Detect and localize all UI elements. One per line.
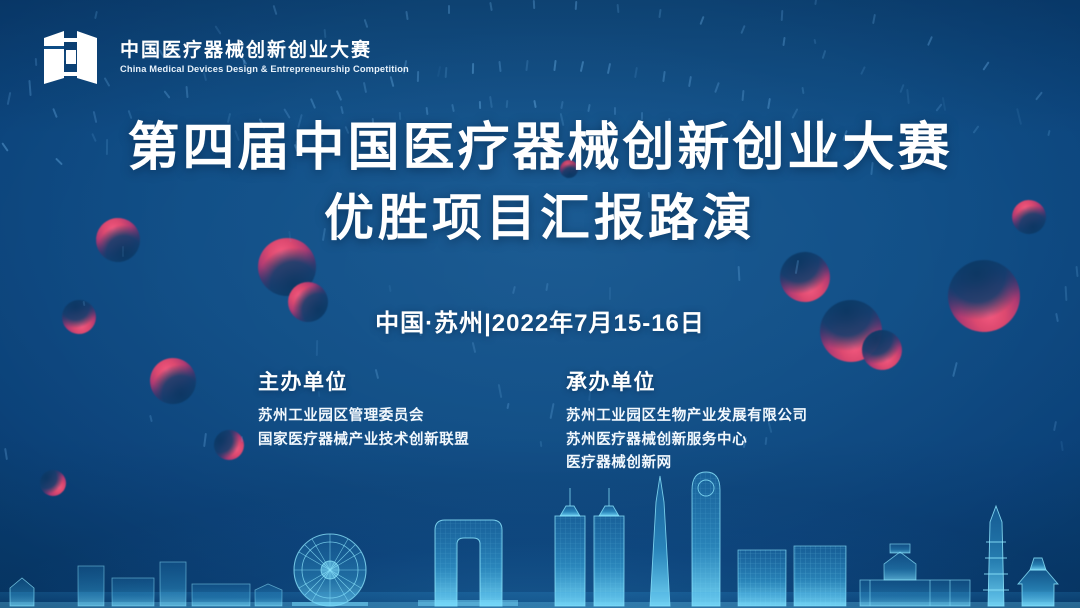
logo-title-cn: 中国医疗器械创新创业大赛 xyxy=(120,40,418,61)
pagoda xyxy=(983,506,1009,606)
list-item: 国家医疗器械产业技术创新联盟 xyxy=(258,429,540,452)
event-poster: 中国医疗器械创新创业大赛 China Medical Devices Desig… xyxy=(0,0,1080,608)
co-organizer-heading: 承办单位 xyxy=(566,370,840,396)
open-door-window-logo-icon xyxy=(36,26,106,88)
poster-title: 第四届中国医疗器械创新创业大赛 优胜项目汇报路演 xyxy=(0,118,1080,248)
logo-subtitle-en: China Medical Devices Design & Entrepren… xyxy=(120,65,409,76)
title-line-1: 第四届中国医疗器械创新创业大赛 xyxy=(0,118,1080,179)
list-item: 苏州医疗器械创新服务中心 xyxy=(566,429,840,452)
brand-header: 中国医疗器械创新创业大赛 China Medical Devices Desig… xyxy=(36,26,418,88)
host-organizer-heading: 主办单位 xyxy=(258,370,540,396)
co-organizer-column: 承办单位 苏州工业园区生物产业发展有限公司 苏州医疗器械创新服务中心 医疗器械创… xyxy=(540,370,840,476)
organizer-section: 主办单位 苏州工业园区管理委员会 国家医疗器械产业技术创新联盟 承办单位 苏州工… xyxy=(0,370,1080,476)
spire-tower xyxy=(650,476,670,606)
title-line-2: 优胜项目汇报路演 xyxy=(0,189,1080,248)
location-date-line: 中国·苏州|2022年7月15-16日 xyxy=(0,303,1080,338)
list-item: 医疗器械创新网 xyxy=(566,452,840,475)
skyline-ground xyxy=(0,592,1080,608)
list-item: 苏州工业园区生物产业发展有限公司 xyxy=(566,405,840,428)
host-organizer-column: 主办单位 苏州工业园区管理委员会 国家医疗器械产业技术创新联盟 xyxy=(240,370,540,476)
list-item: 苏州工业园区管理委员会 xyxy=(258,405,540,428)
